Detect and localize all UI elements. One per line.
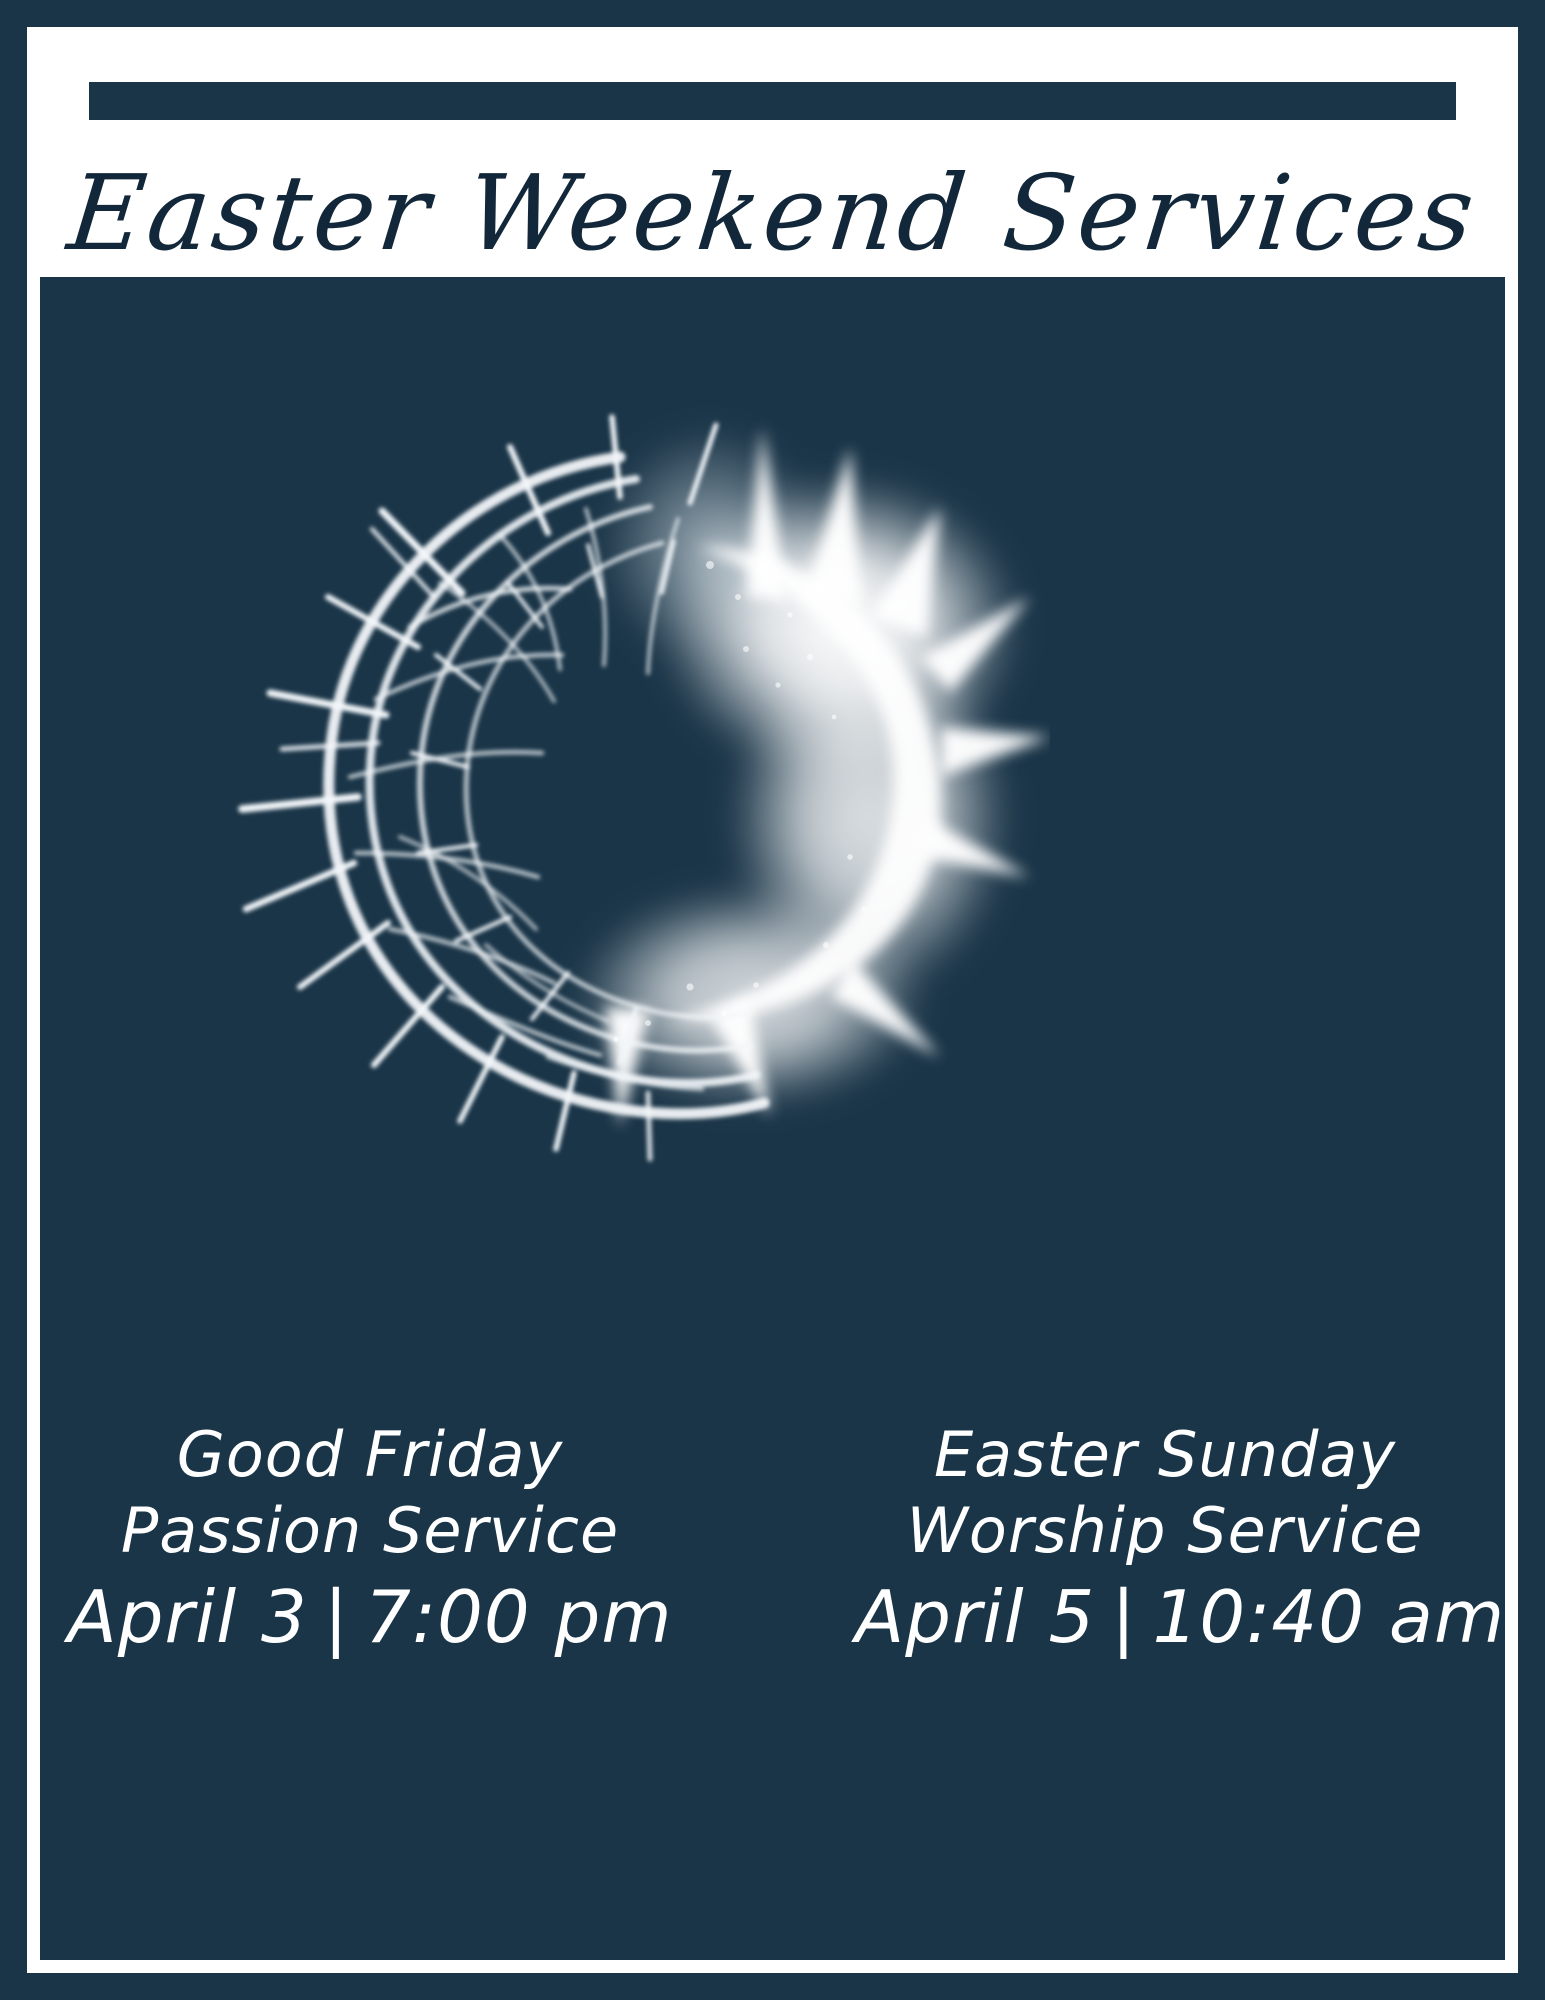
service-separator: | <box>1095 1574 1152 1662</box>
page-title: Easter Weekend Services <box>40 123 1505 277</box>
easter-service-flyer: Easter Weekend Services <box>0 0 1545 2000</box>
service-name: Good Friday <box>60 1417 680 1493</box>
service-easter-sunday: Easter Sunday Worship Service April 5|10… <box>855 1417 1475 1662</box>
service-time: 10:40 am <box>1153 1575 1505 1659</box>
service-datetime: April 3|7:00 pm <box>60 1574 680 1662</box>
service-datetime: April 5|10:40 am <box>855 1574 1475 1662</box>
service-type: Passion Service <box>60 1493 680 1569</box>
service-list: Good Friday Passion Service April 3|7:00… <box>40 1417 1505 1662</box>
service-date: April 3 <box>68 1575 308 1659</box>
service-date: April 5 <box>855 1575 1095 1659</box>
main-navy-field: Good Friday Passion Service April 3|7:00… <box>40 277 1505 1960</box>
service-type: Worship Service <box>855 1493 1475 1569</box>
service-separator: | <box>308 1574 365 1662</box>
header-rule-bar <box>89 82 1456 120</box>
service-name: Easter Sunday <box>855 1417 1475 1493</box>
service-time: 7:00 pm <box>365 1575 672 1659</box>
service-good-friday: Good Friday Passion Service April 3|7:00… <box>60 1417 680 1662</box>
header-panel: Easter Weekend Services <box>40 27 1505 277</box>
crown-of-thorns-icon <box>150 297 1050 1167</box>
